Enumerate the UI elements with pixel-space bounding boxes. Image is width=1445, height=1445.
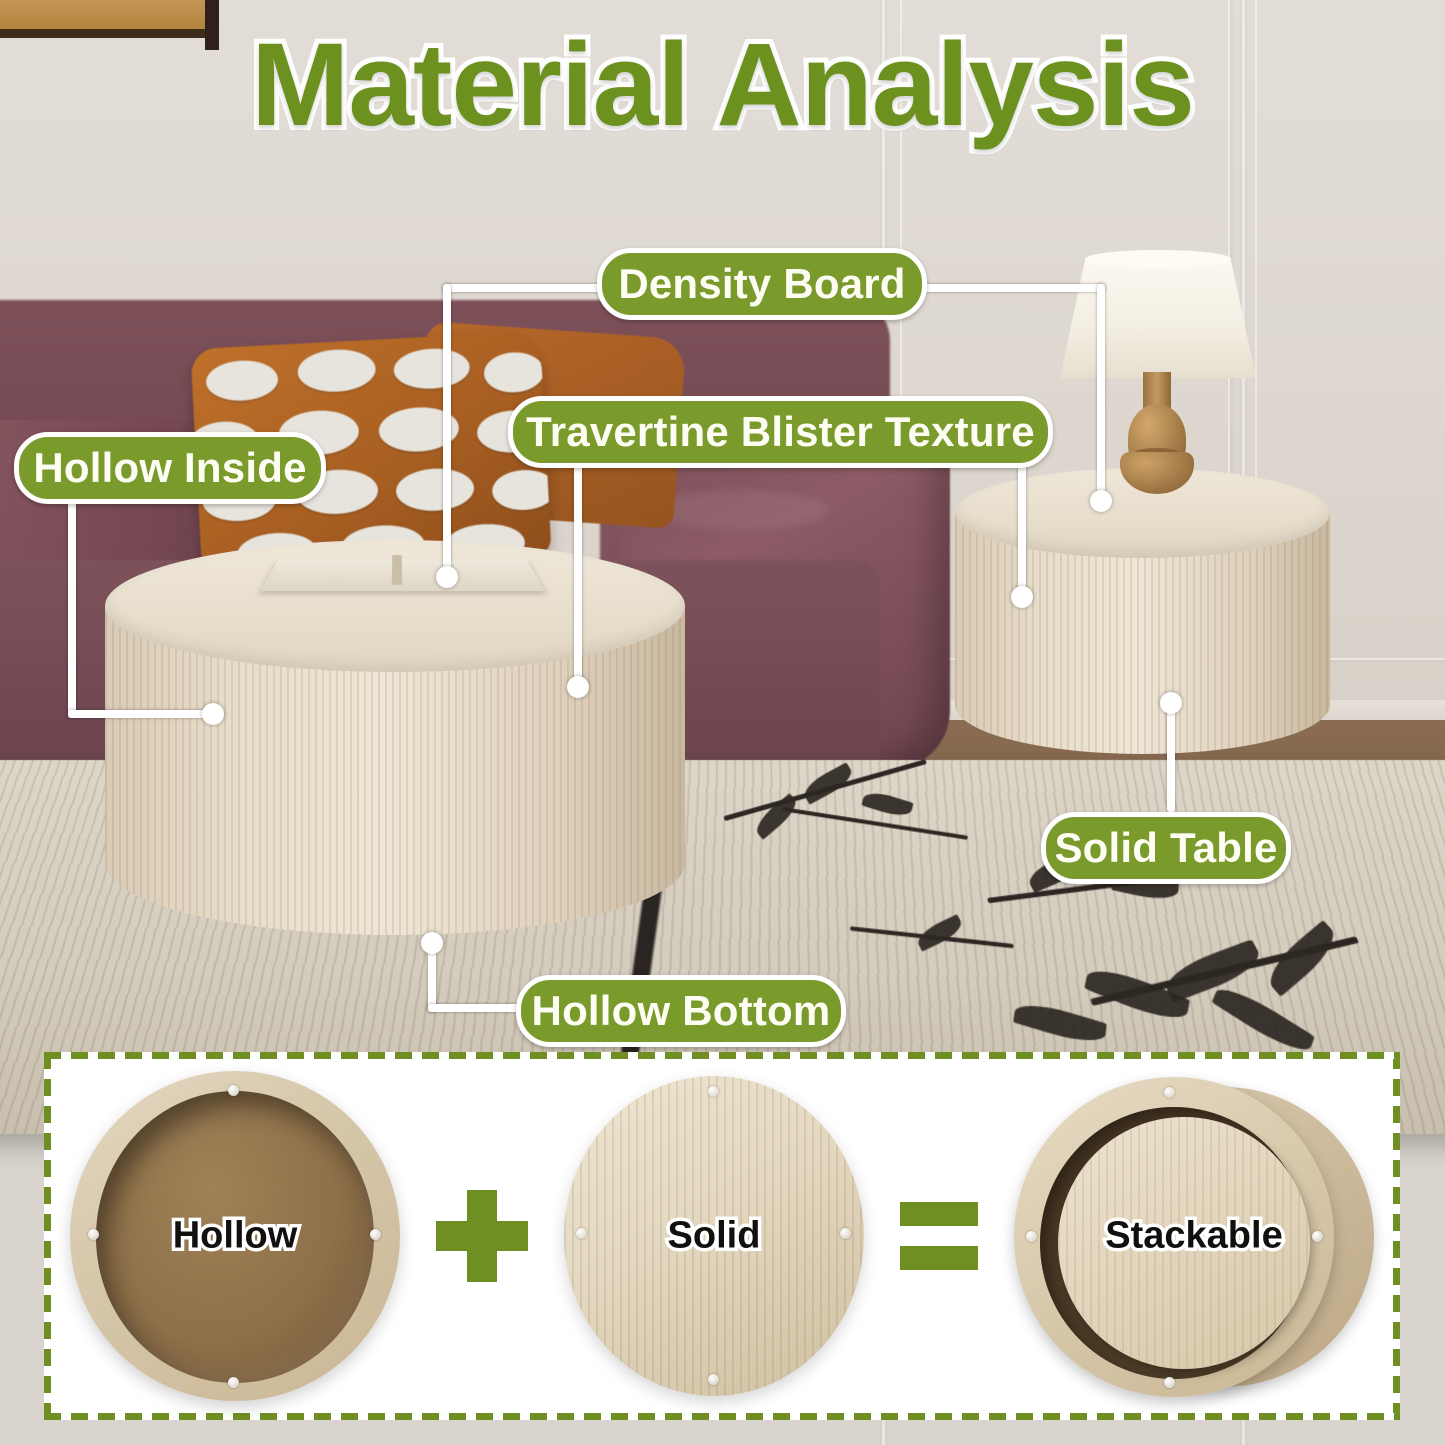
leader-dot-travertine [567,676,589,698]
leader-dot-solid-table [1160,692,1182,714]
lamp-shade [1060,258,1256,378]
callout-label: Hollow Bottom [532,987,831,1035]
leader-line-density-board-right [920,284,1105,292]
leader-line-hollow-inside [68,496,76,718]
leader-dot-density-board-right [1090,490,1112,512]
leader-line-hollow-inside [68,710,214,718]
leader-line-density-board-right [1097,284,1105,498]
callout-travertine-blister-texture[interactable]: Travertine Blister Texture [508,396,1053,468]
plus-icon [436,1190,528,1282]
leader-dot-hollow-bottom [421,932,443,954]
callout-label: Density Board [618,260,905,308]
equation-term-label: Solid [668,1215,761,1258]
callout-hollow-bottom[interactable]: Hollow Bottom [516,975,846,1047]
leader-line-travertine [574,462,582,684]
equation-term-hollow: Hollow [70,1071,400,1401]
equation-term-stackable: Stackable [1014,1071,1374,1401]
callout-label: Hollow Inside [33,444,306,492]
callout-solid-table[interactable]: Solid Table [1041,812,1291,884]
leader-line-density-board [443,284,451,574]
callout-label: Travertine Blister Texture [526,408,1035,456]
callout-label: Solid Table [1054,824,1277,872]
open-book [260,559,544,591]
leader-line-travertine-right [1018,462,1026,594]
leader-dot-density-board [436,566,458,588]
leader-line-solid-table [1167,700,1175,812]
equation-term-label: Stackable [1105,1215,1282,1258]
callout-hollow-inside[interactable]: Hollow Inside [14,432,326,504]
book-spine [392,555,403,585]
callout-density-board[interactable]: Density Board [597,248,927,320]
equals-icon [900,1202,978,1270]
leader-dot-travertine-right [1011,586,1033,608]
leader-dot-hollow-inside [202,703,224,725]
equation-term-solid: Solid [564,1076,864,1396]
equation-term-label: Hollow [173,1215,298,1258]
page-title: Material Analysis [0,26,1445,144]
lamp-shade-rim [1085,250,1231,268]
infographic-canvas: Material Analysis Density Board Traverti… [0,0,1445,1445]
equation-panel: Hollow Solid [44,1052,1400,1420]
